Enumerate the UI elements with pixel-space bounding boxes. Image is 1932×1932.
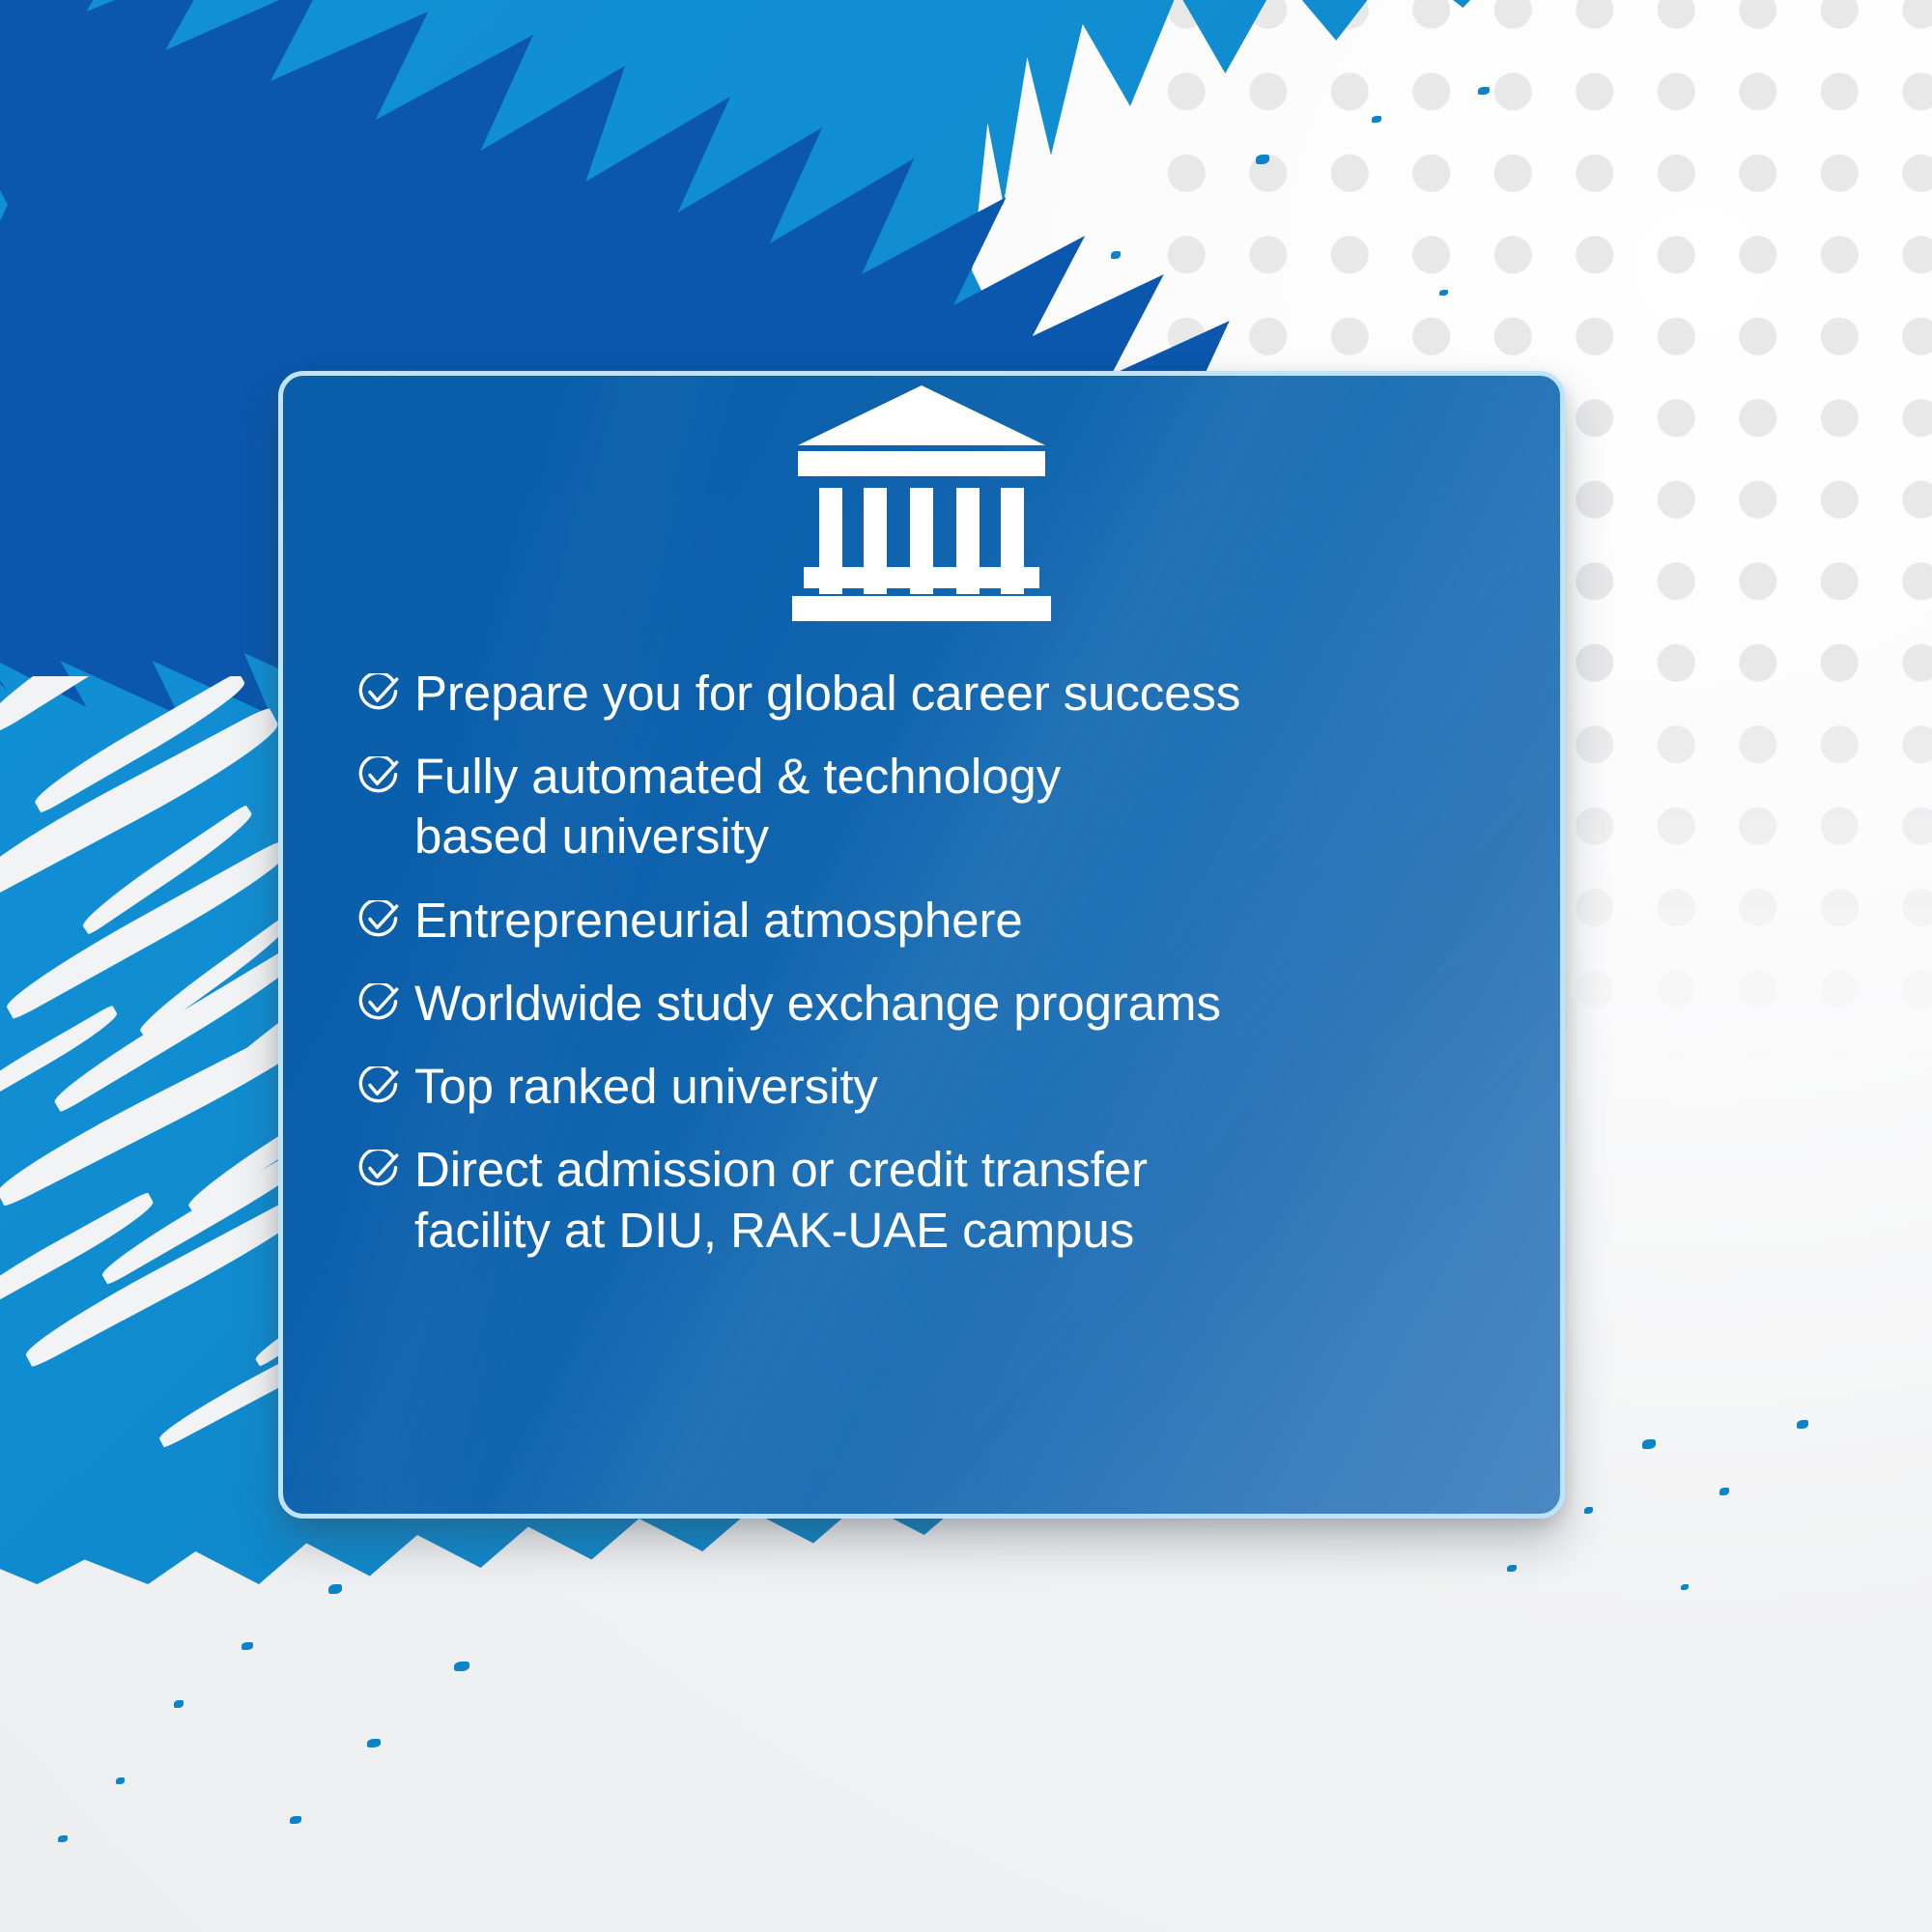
poster-canvas: Prepare you for global career success Fu…: [0, 0, 1932, 1932]
check-circle-icon: [358, 756, 399, 797]
check-circle-icon: [358, 1066, 399, 1107]
check-circle-icon: [358, 1150, 399, 1190]
check-circle-icon: [358, 983, 399, 1024]
feature-card: Prepare you for global career success Fu…: [278, 371, 1565, 1519]
feature-list-item-0: Prepare you for global career success: [358, 664, 1502, 724]
university-building-icon: [792, 385, 1051, 621]
feature-label: Prepare you for global career success: [414, 664, 1240, 724]
card-icon-container: [283, 376, 1560, 621]
check-circle-icon: [358, 900, 399, 941]
feature-label: Entrepreneurial atmosphere: [414, 891, 1023, 951]
feature-label: Worldwide study exchange programs: [414, 974, 1221, 1034]
feature-label: Top ranked university: [414, 1057, 878, 1117]
feature-label: Direct admission or credit transfer faci…: [414, 1140, 1148, 1260]
feature-list-item-2: Entrepreneurial atmosphere: [358, 891, 1502, 951]
feature-list-item-3: Worldwide study exchange programs: [358, 974, 1502, 1034]
feature-list-item-5: Direct admission or credit transfer faci…: [358, 1140, 1502, 1260]
check-circle-icon: [358, 673, 399, 714]
feature-list-item-4: Top ranked university: [358, 1057, 1502, 1117]
feature-list-item-1: Fully automated & technology based unive…: [358, 747, 1502, 867]
feature-label: Fully automated & technology based unive…: [414, 747, 1061, 867]
feature-list: Prepare you for global career success Fu…: [358, 664, 1502, 1284]
